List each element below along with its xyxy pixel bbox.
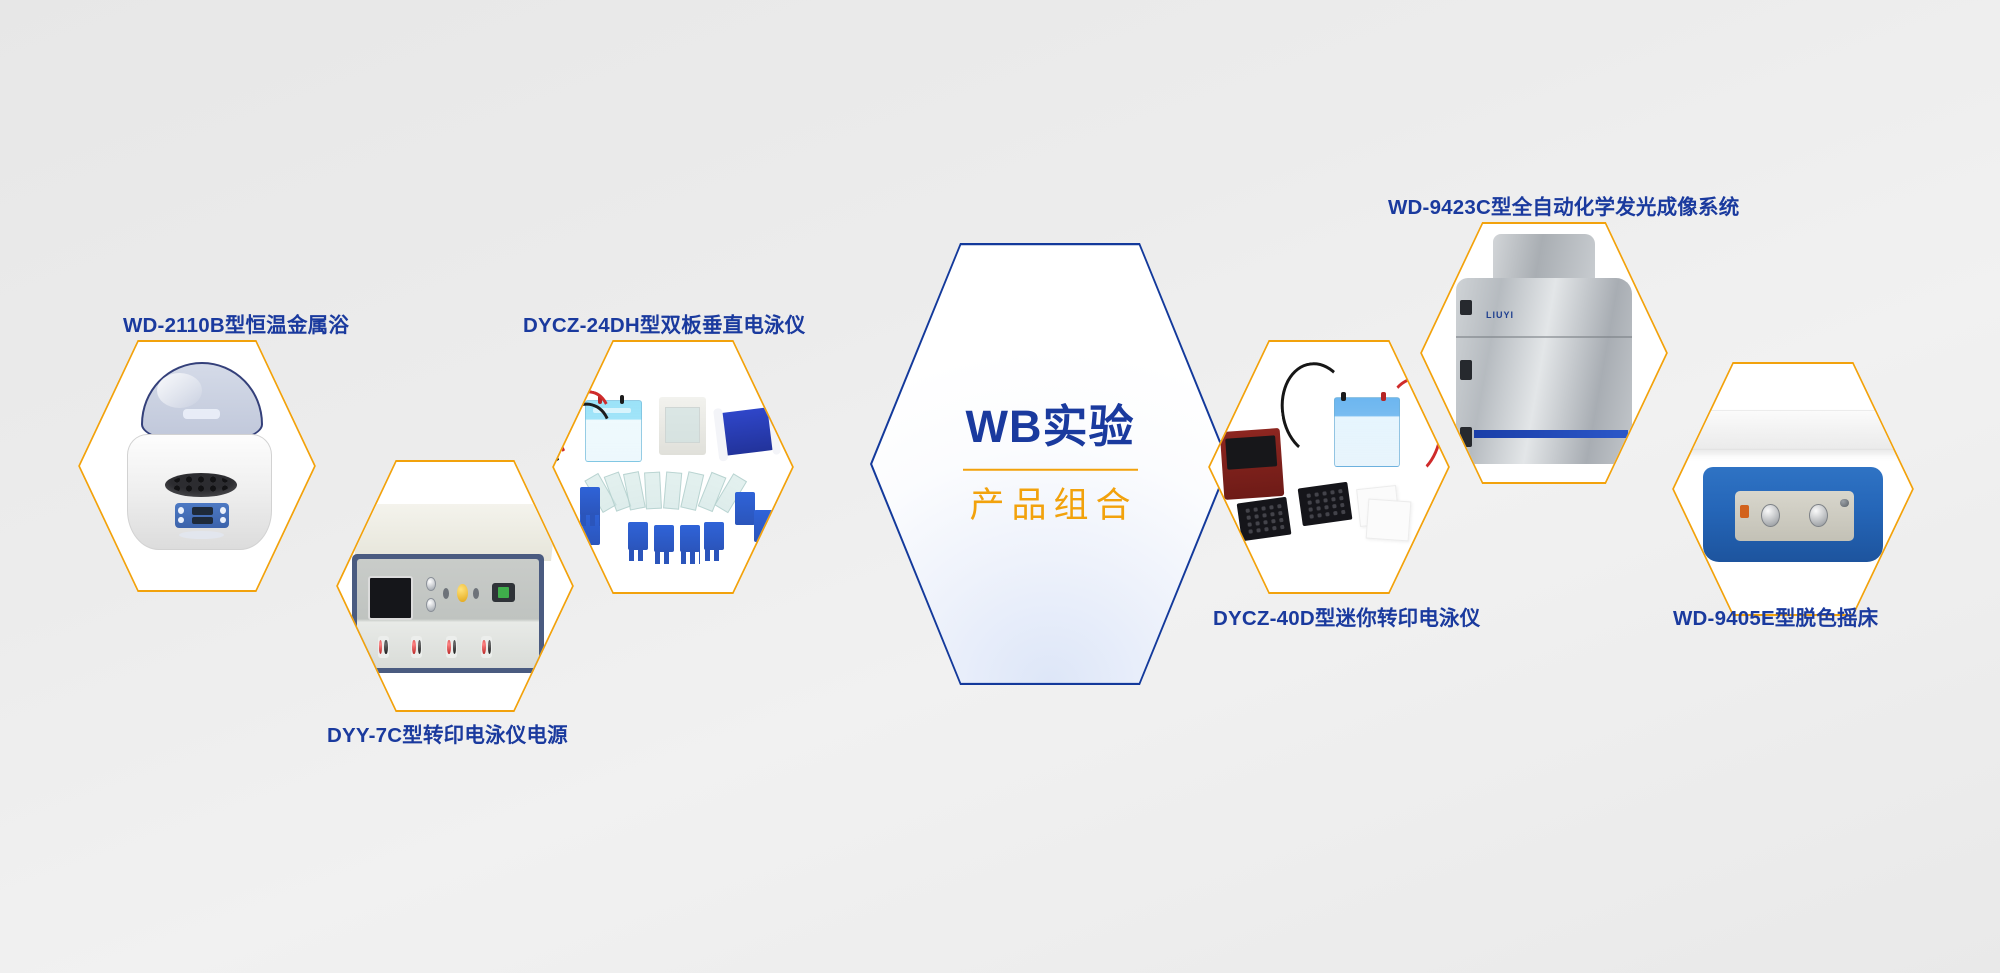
bath-display-time <box>192 517 213 524</box>
product-hex-decolor-shaker[interactable] <box>1672 362 1914 616</box>
ve-comb <box>704 522 724 550</box>
bath-down-arrow-1 <box>220 507 226 514</box>
ve-comb <box>654 525 674 553</box>
shaker-knob-speed <box>1761 504 1780 528</box>
ci-side-port-top <box>1460 300 1472 315</box>
power-supply-top-cover <box>354 504 557 561</box>
bath-body <box>127 434 272 551</box>
mini-transfer-image <box>1210 342 1448 592</box>
metal-bath-image <box>80 342 314 590</box>
product-hex-mini-transfer[interactable] <box>1208 340 1450 594</box>
product-hex-power-supply[interactable] <box>336 460 574 712</box>
hex-inner <box>80 342 314 590</box>
vertical-electrophoresis-image <box>554 342 792 592</box>
power-supply-button-yellow <box>457 584 468 603</box>
ve-electrode-black <box>620 395 624 403</box>
bath-sample-block <box>165 473 237 497</box>
shaker-brand-badge <box>1740 505 1750 518</box>
center-subtitle: 产品组合 <box>872 484 1228 526</box>
power-supply-rocker-switch <box>492 583 516 603</box>
bath-lid-gloss <box>157 373 202 408</box>
mt-filter-paper <box>1366 498 1412 541</box>
power-supply-jack-pair <box>481 636 492 658</box>
ci-brand-logo: LIUYI <box>1486 310 1514 320</box>
hex-inner <box>1210 342 1448 592</box>
center-divider <box>963 468 1138 470</box>
ve-glass-plate <box>663 472 682 511</box>
mt-electrode-grid <box>1236 496 1291 540</box>
hex-inner <box>1674 364 1912 614</box>
power-supply-jack-pair <box>411 636 422 658</box>
product-hex-metal-bath[interactable] <box>78 340 316 592</box>
center-hexagon: WB实验 产品组合 <box>870 243 1230 685</box>
bath-up-arrow-2 <box>178 517 184 524</box>
ve-comb <box>680 525 700 553</box>
label-metal-bath: WD-2110B型恒温金属浴 <box>123 308 349 338</box>
center-title: WB实验 <box>872 402 1228 452</box>
diagram-canvas: WD-2110B型恒温金属浴 <box>0 0 2000 973</box>
power-supply-panel <box>357 559 539 668</box>
power-supply-lcd <box>368 576 413 620</box>
power-supply-jack-pair <box>378 636 389 658</box>
decolor-shaker-image <box>1674 364 1912 614</box>
center-hex-inner: WB实验 产品组合 <box>872 245 1228 683</box>
mt-electrode-red <box>1381 392 1386 402</box>
ci-accent-stripe <box>1474 430 1629 438</box>
bath-lid <box>141 362 263 444</box>
label-power-supply: DYY-7C型转印电泳仪电源 <box>327 718 568 748</box>
bath-logo-plate <box>179 531 223 539</box>
hex-inner <box>338 462 572 710</box>
product-hex-chemi-imager[interactable]: LIUYI <box>1420 222 1668 484</box>
ve-glass-plate <box>644 472 662 510</box>
ve-comb <box>628 522 648 550</box>
chemi-imager-image: LIUYI <box>1422 224 1666 482</box>
mt-electrode-grid <box>1298 481 1353 525</box>
shaker-knob-timer <box>1809 504 1828 528</box>
power-supply-button-small <box>443 588 449 599</box>
ci-door-seam <box>1456 336 1632 338</box>
product-hex-vertical-electrophoresis[interactable] <box>552 340 794 594</box>
ve-comb <box>580 487 600 515</box>
label-chemi-imager: WD-9423C型全自动化学发光成像系统 <box>1388 190 1739 220</box>
ve-spacer <box>735 492 755 525</box>
bath-control-panel <box>175 503 229 527</box>
bath-display-temp <box>192 507 213 514</box>
power-supply-jack-pair <box>446 636 457 658</box>
power-supply-jack-row <box>364 636 531 658</box>
power-supply-indicator <box>473 588 479 599</box>
hex-inner <box>554 342 792 592</box>
mt-transfer-cassette <box>1220 428 1284 499</box>
shaker-tray <box>1679 410 1907 449</box>
shaker-control-panel <box>1735 491 1854 540</box>
hex-inner: LIUYI <box>1422 224 1666 482</box>
power-supply-front <box>352 554 544 673</box>
bath-sample-holes <box>171 475 230 493</box>
power-supply-knob-up <box>426 577 436 591</box>
shaker-power-indicator <box>1840 499 1848 507</box>
label-mini-transfer: DYCZ-40D型迷你转印电泳仪 <box>1213 601 1480 631</box>
power-supply-image <box>338 462 572 710</box>
label-vertical-electrophoresis: DYCZ-24DH型双板垂直电泳仪 <box>523 308 805 338</box>
bath-up-arrow-1 <box>178 507 184 514</box>
power-supply-knob-down <box>426 598 436 612</box>
ci-cabinet: LIUYI <box>1456 278 1632 464</box>
ve-casting-stand <box>659 397 707 455</box>
center-text-block: WB实验 产品组合 <box>872 402 1228 527</box>
label-decolor-shaker: WD-9405E型脱色摇床 <box>1673 601 1878 631</box>
ve-glass-plate-fan <box>602 467 745 510</box>
ci-side-port-mid <box>1460 360 1472 380</box>
bath-down-arrow-2 <box>220 517 226 524</box>
shaker-body <box>1703 467 1884 562</box>
